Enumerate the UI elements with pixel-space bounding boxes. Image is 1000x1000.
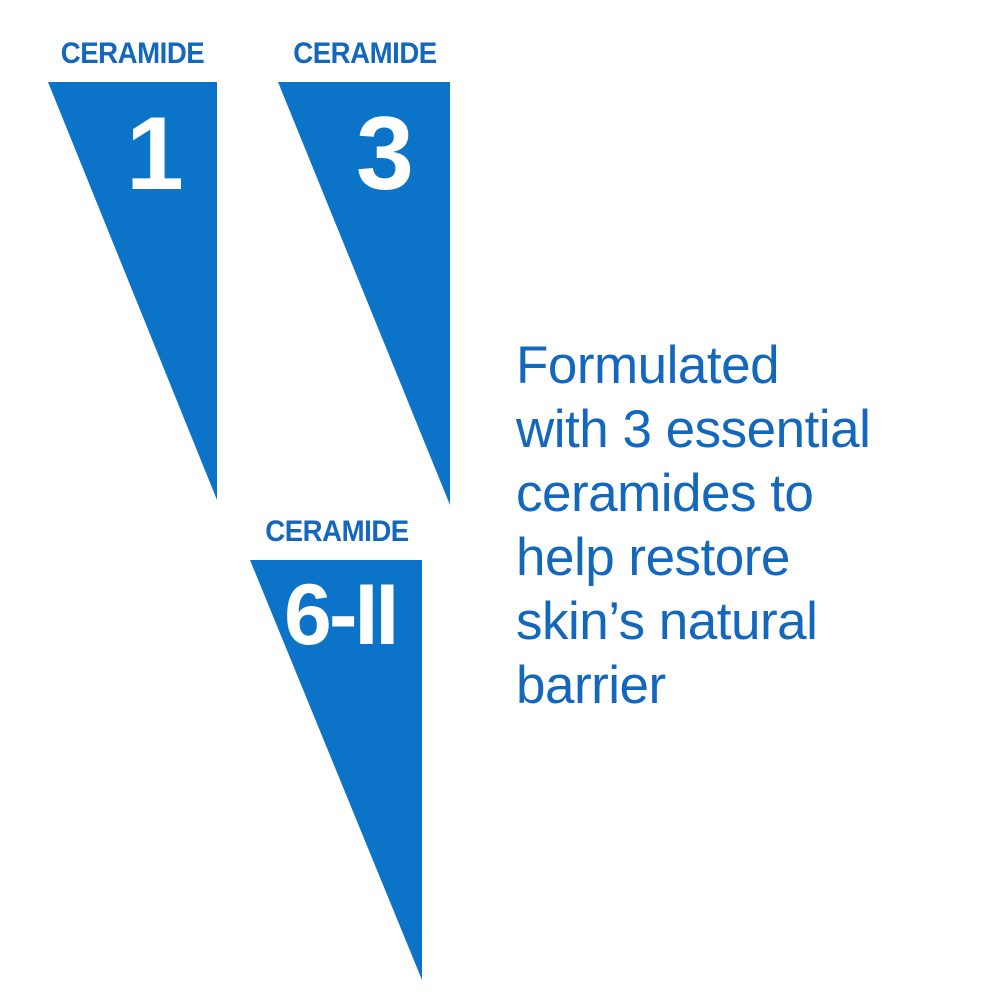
ceramide-6-ii-label: CERAMIDE	[242, 516, 432, 548]
ceramide-infographic: CERAMIDE 1 CERAMIDE 3 CERAMIDE 6-II Form…	[0, 0, 1000, 1000]
body-copy-line: skin’s natural	[516, 590, 960, 654]
ceramide-1-label: CERAMIDE	[38, 38, 227, 70]
ceramide-3-label: CERAMIDE	[270, 38, 460, 70]
ceramide-6-ii-number: 6-II	[284, 572, 396, 658]
body-copy-line: Formulated	[516, 334, 960, 398]
body-copy: Formulated with 3 essential ceramides to…	[516, 334, 960, 718]
body-copy-line: ceramides to	[516, 462, 960, 526]
body-copy-line: barrier	[516, 654, 960, 718]
body-copy-line: help restore	[516, 526, 960, 590]
ceramide-3-number: 3	[356, 102, 412, 206]
ceramide-1-number: 1	[126, 102, 182, 206]
body-copy-line: with 3 essential	[516, 398, 960, 462]
